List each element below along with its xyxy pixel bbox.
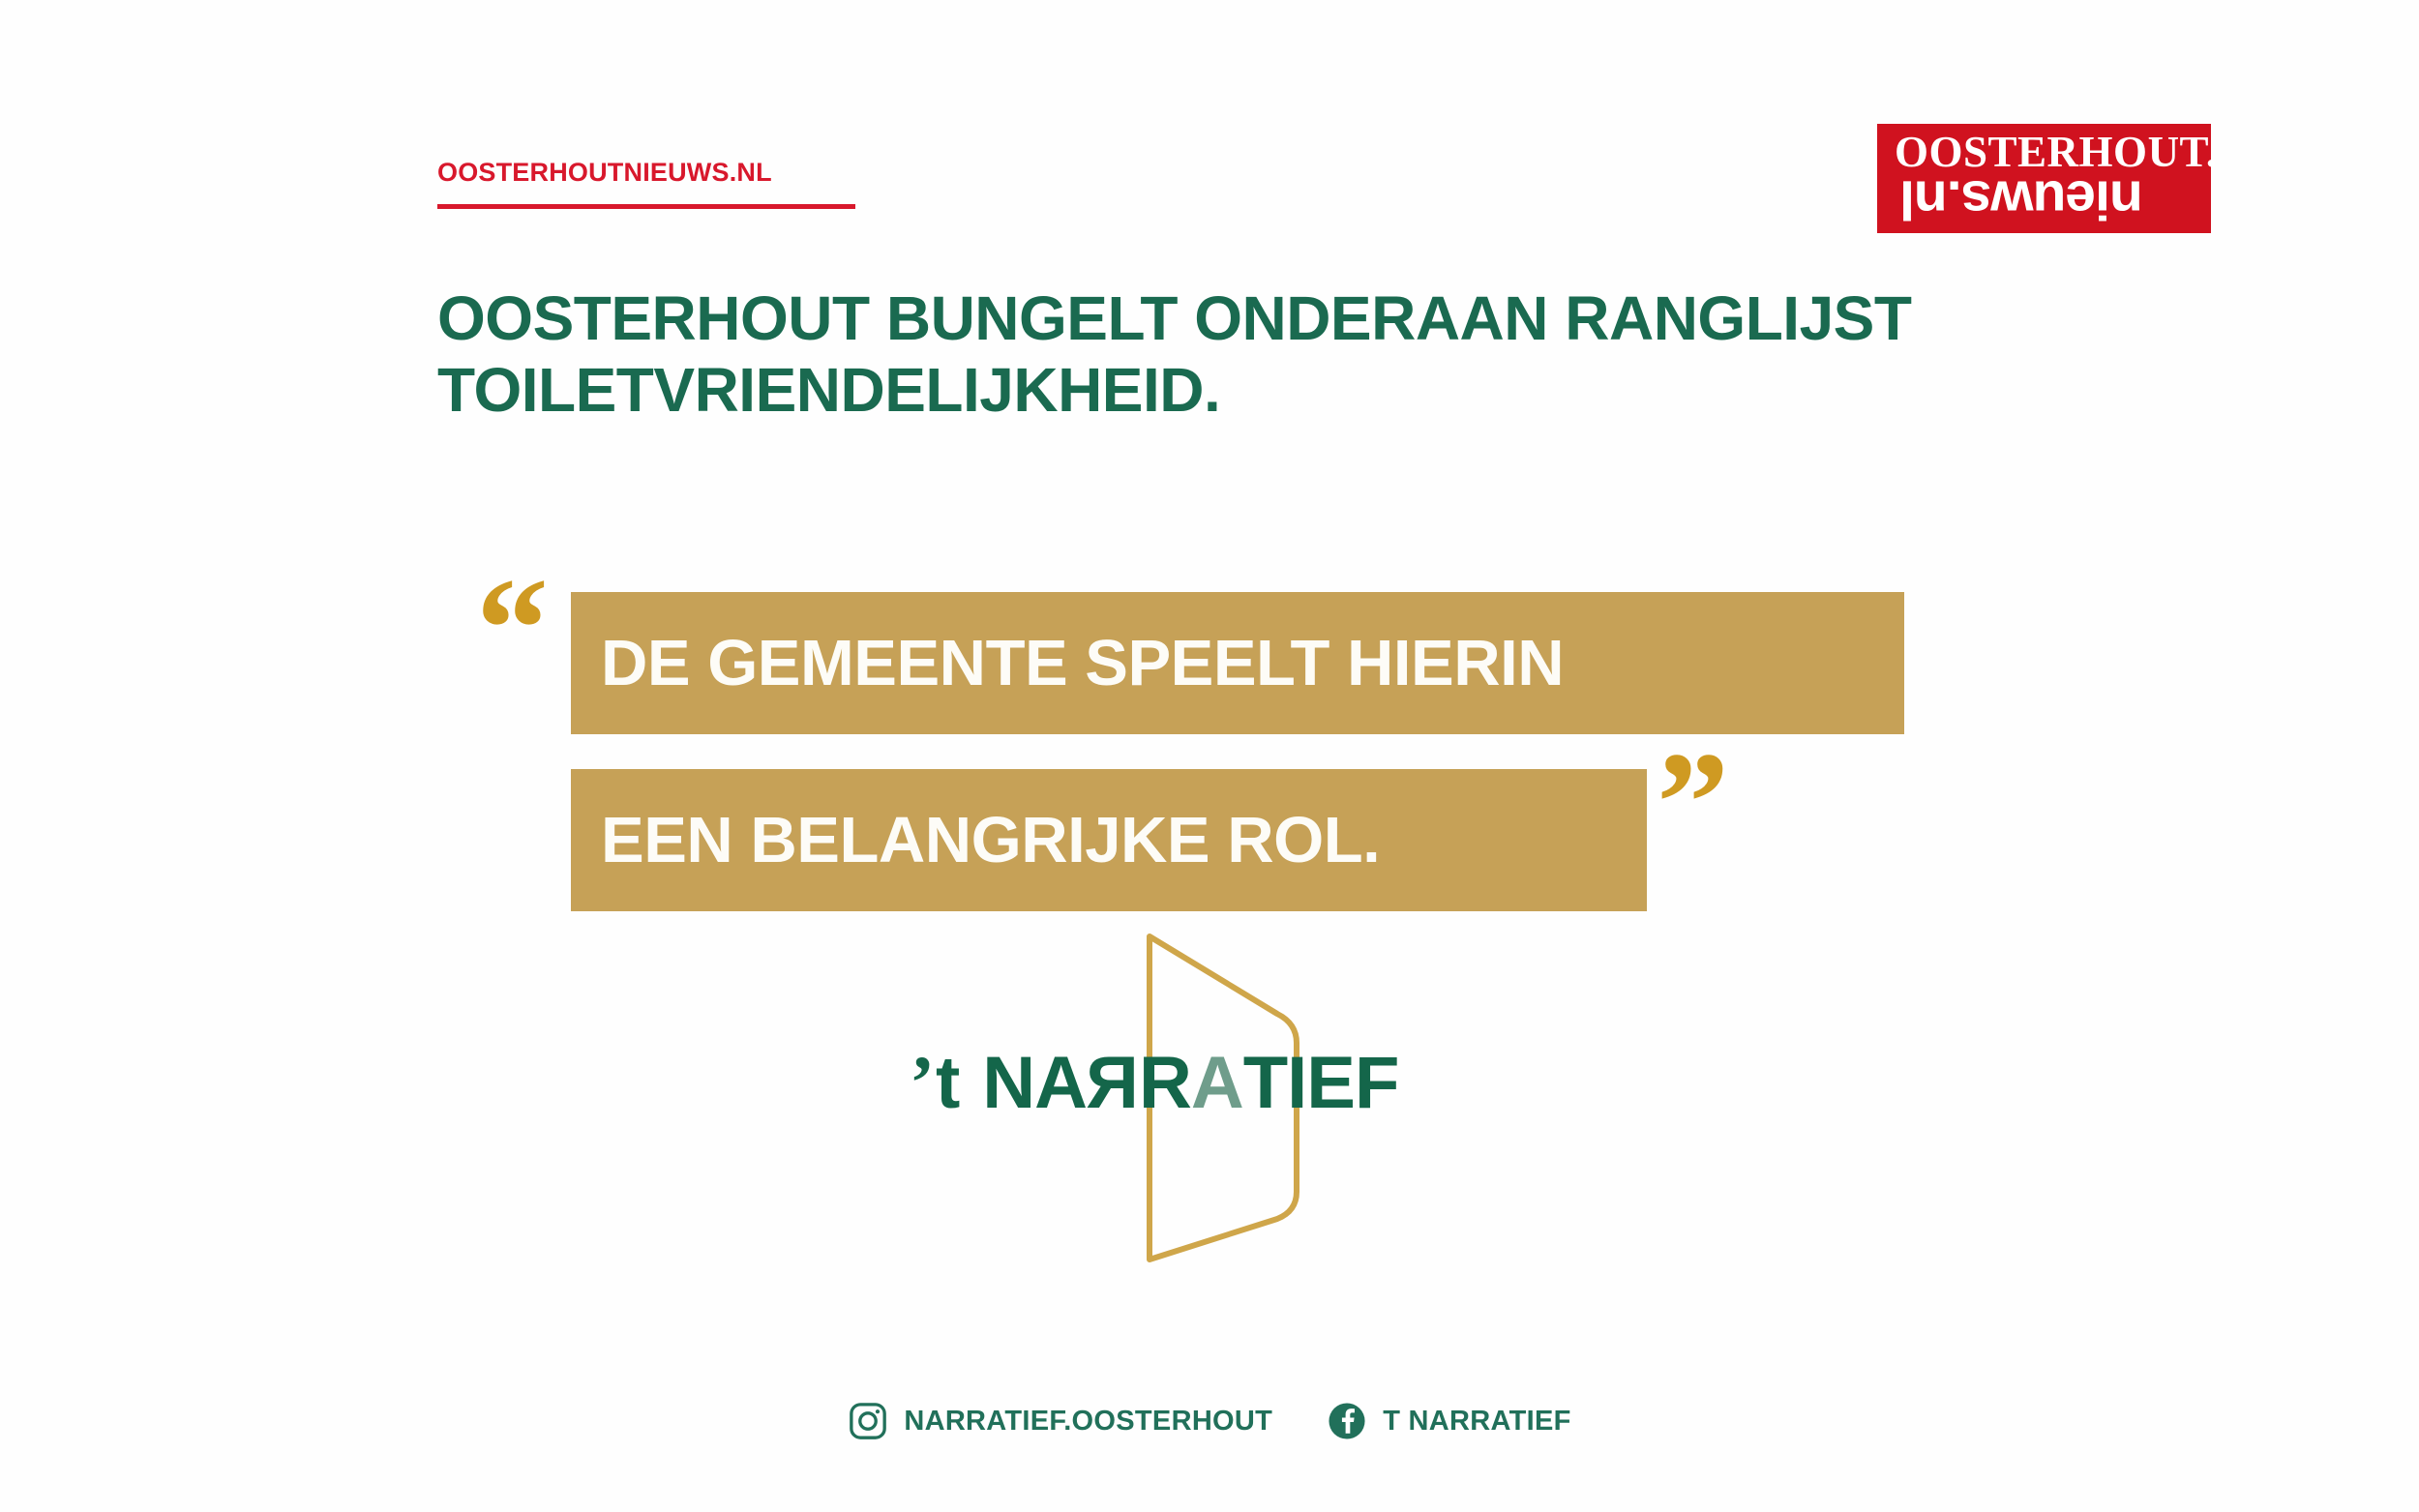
- site-label-text: OOSTERHOUTNIEUWS.NL: [437, 160, 863, 186]
- narratief-part-3: R: [1139, 1047, 1191, 1120]
- narratief-flipped-r: R: [1087, 1047, 1139, 1120]
- quote-text-line-2: EEN BELANGRIJKE ROL.: [601, 808, 1380, 873]
- oosterhout-nieuws-logo: OOSTERHOUT. nieuws.nl: [1877, 124, 2211, 233]
- logo-bottom-line: nieuws.nl: [1900, 174, 2143, 224]
- narratief-apostrophe: ’: [910, 1045, 934, 1120]
- social-links: NARRATIEF.OOSTERHOUT T NARRATIEF: [0, 1401, 2419, 1441]
- quote-bar-2: EEN BELANGRIJKE ROL.: [571, 769, 1647, 911]
- quote-open-mark: “: [476, 556, 549, 701]
- quote-close-mark: ”: [1657, 730, 1729, 875]
- site-label-underline: [437, 204, 855, 209]
- social-label-facebook: T NARRATIEF: [1383, 1406, 1570, 1438]
- quote-bar-1: DE GEMEENTE SPEELT HIERIN: [571, 592, 1904, 734]
- facebook-icon: [1327, 1401, 1367, 1441]
- site-label: OOSTERHOUTNIEUWS.NL: [437, 160, 863, 209]
- social-link-facebook[interactable]: T NARRATIEF: [1327, 1401, 1570, 1441]
- narratief-part-1: NA: [982, 1047, 1087, 1120]
- narratief-wordmark: ’tNARRATIEF: [910, 1045, 1509, 1120]
- headline-line-1: OOSTERHOUT BUNGELT ONDERAAN RANGLIJST: [437, 282, 2082, 354]
- social-link-instagram[interactable]: NARRATIEF.OOSTERHOUT: [848, 1401, 1272, 1441]
- narratief-part-5: TIEF: [1243, 1047, 1399, 1120]
- logo-top-line: OOSTERHOUT.: [1895, 132, 2218, 172]
- narratief-logo: ’tNARRATIEF: [910, 929, 1509, 1267]
- quote-text-line-1: DE GEMEENTE SPEELT HIERIN: [601, 631, 1564, 696]
- headline-line-2: TOILETVRIENDELIJKHEID.: [437, 354, 2082, 426]
- quote-card: OOSTERHOUTNIEUWS.NL OOSTERHOUT. nieuws.n…: [0, 0, 2419, 1512]
- narratief-t: t: [936, 1047, 959, 1120]
- page-title: OOSTERHOUT BUNGELT ONDERAAN RANGLIJST TO…: [437, 282, 2082, 426]
- instagram-icon: [848, 1401, 888, 1441]
- narratief-part-4: A: [1191, 1047, 1243, 1120]
- social-label-instagram: NARRATIEF.OOSTERHOUT: [904, 1406, 1272, 1438]
